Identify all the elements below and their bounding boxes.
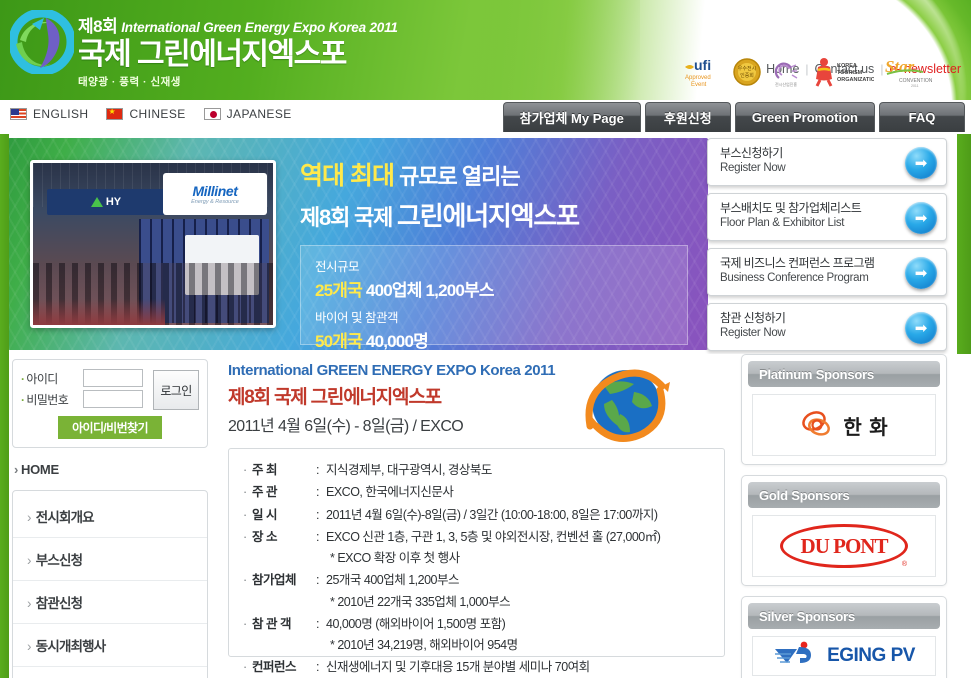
gold-seal-badge: 우수전시 인증회 xyxy=(732,54,762,90)
quick-link-visitor-register[interactable]: 참관 신청하기 Register Now ➡ xyxy=(707,303,947,351)
info-key: 장 소 xyxy=(252,526,316,548)
info-value: 2011년 4월 6일(수)-8일(금) / 3일간 (10:00-18:00,… xyxy=(326,504,714,526)
sidebar-item-label: 부스신청 xyxy=(36,553,82,568)
quick-link-en: Business Conference Program xyxy=(720,271,890,286)
tab-my-page[interactable]: 참가업체 My Page xyxy=(503,102,641,132)
logo-tagline: 태양광 · 풍력 · 신재생 xyxy=(78,74,398,89)
stat-scale-rest: 400업체 1,200부스 xyxy=(362,281,494,300)
info-colon: : xyxy=(316,481,326,503)
info-colon: : xyxy=(316,459,326,481)
info-subnote-venue: * EXCO 확장 이후 첫 행사 xyxy=(243,548,714,569)
bullet-icon: · xyxy=(243,526,252,548)
bullet-icon: · xyxy=(243,481,252,503)
lang-english[interactable]: ENGLISH xyxy=(10,107,88,121)
info-colon: : xyxy=(316,569,326,591)
sidebar-item-label: 참관신청 xyxy=(36,596,82,611)
dupont-oval-icon: DU PONT xyxy=(780,524,908,568)
eging-pv-logo-text: EGING PV xyxy=(827,645,915,667)
lang-japanese[interactable]: JAPANESE xyxy=(204,107,292,121)
hero-banner[interactable]: HY Millinet Energy & Resource 역대 최대 규모로 … xyxy=(8,138,708,350)
hero-section: HY Millinet Energy & Resource 역대 최대 규모로 … xyxy=(0,134,971,354)
korea-tourism-organization-badge: KOREA TOURISM ORGANIZATION xyxy=(810,54,874,90)
info-row-venue: · 장 소 : EXCO 신관 1층, 구관 1, 3, 5층 및 야외전시장,… xyxy=(243,526,714,548)
logo-english-title: International Green Energy Expo Korea 20… xyxy=(121,20,397,35)
info-value: EXCO, 한국에너지신문사 xyxy=(326,481,714,503)
stat-visitors-countries: 50개국 xyxy=(315,332,362,350)
info-key: 일 시 xyxy=(252,504,316,526)
platinum-sponsors-header: Platinum Sponsors xyxy=(748,361,940,387)
gold-sponsors-header: Gold Sponsors xyxy=(748,482,940,508)
arrow-right-icon[interactable]: ➡ xyxy=(905,202,937,234)
info-subnote-exhibitors: * 2010년 22개국 335업체 1,000부스 xyxy=(243,592,714,613)
tab-green-promotion[interactable]: Green Promotion xyxy=(735,102,875,132)
info-key: 참가업체 xyxy=(252,569,316,591)
tab-faq[interactable]: FAQ xyxy=(879,102,965,132)
main-tab-bar: 참가업체 My Page 후원신청 Green Promotion FAQ xyxy=(503,102,965,132)
language-switcher: ENGLISH CHINESE JAPANESE xyxy=(10,107,292,121)
quick-link-en: Floor Plan & Exhibitor List xyxy=(720,216,890,231)
hanwha-logo[interactable]: 한 화 xyxy=(752,394,936,456)
login-id-input[interactable] xyxy=(83,369,143,387)
site-logo-text[interactable]: 제8회 International Green Energy Expo Kore… xyxy=(78,12,398,89)
info-key: 컨퍼런스 xyxy=(252,656,316,678)
info-colon: : xyxy=(316,504,326,526)
arrow-right-icon[interactable]: ➡ xyxy=(905,147,937,179)
triangle-icon xyxy=(91,197,103,207)
quick-link-floor-plan[interactable]: 부스배치도 및 참가업체리스트 Floor Plan & Exhibitor L… xyxy=(707,193,947,241)
quick-link-en: Register Now xyxy=(720,326,890,341)
bullet-icon: · xyxy=(243,504,252,526)
logo-edition: 제8회 xyxy=(78,12,117,37)
svg-text:ufi: ufi xyxy=(694,57,711,73)
dupont-logo-text: DU PONT xyxy=(801,534,888,559)
quick-link-kr: 부스신청하기 xyxy=(720,146,890,161)
sidebar-item-business-conference[interactable]: ›국제 비즈니스 컨퍼런스 xyxy=(13,667,207,678)
svg-text:KOREA: KOREA xyxy=(837,63,857,69)
info-row-datetime: · 일 시 : 2011년 4월 6일(수)-8일(금) / 3일간 (10:0… xyxy=(243,504,714,526)
left-sidebar: 아이디 비밀번호 로그인 아이디/비번찾기 ›HOME xyxy=(0,354,220,678)
lang-japanese-label: JAPANESE xyxy=(227,107,292,121)
photo-millinet-sign: Millinet Energy & Resource xyxy=(163,173,267,215)
login-password-input[interactable] xyxy=(83,390,143,408)
silver-sponsors-box: Silver Sponsors EGING PV xyxy=(741,596,947,678)
login-button[interactable]: 로그인 xyxy=(153,370,199,410)
info-value: EXCO 신관 1층, 구관 1, 3, 5층 및 야외전시장, 컨벤션 홀 (… xyxy=(326,526,714,548)
login-fields: 아이디 비밀번호 로그인 xyxy=(21,369,199,411)
info-row-conference: · 컨퍼런스 : 신재생에너지 및 기후대응 15개 분야별 세미나 70여회 xyxy=(243,656,714,678)
photo-banner-text: HY xyxy=(106,196,121,208)
info-value: 40,000명 (해외바이어 1,500명 포함) xyxy=(326,613,714,635)
info-colon: : xyxy=(316,526,326,548)
info-row-visitors: · 참 관 객 : 40,000명 (해외바이어 1,500명 포함) xyxy=(243,613,714,635)
quick-link-kr: 참관 신청하기 xyxy=(720,311,890,326)
lang-english-label: ENGLISH xyxy=(33,107,88,121)
quick-links-panel: 부스신청하기 Register Now ➡ 부스배치도 및 참가업체리스트 Fl… xyxy=(707,138,947,351)
hero-text-block: 역대 최대 규모로 열리는 제8회 국제 그린에너지엑스포 전시규모 25개국 … xyxy=(300,156,692,345)
hero-stats-box: 전시규모 25개국 400업체 1,200부스 바이어 및 참관객 50개국 4… xyxy=(300,245,688,345)
china-flag-icon xyxy=(106,108,123,120)
svg-text:TOURISM: TOURISM xyxy=(837,70,863,76)
find-id-password-button[interactable]: 아이디/비번찾기 xyxy=(58,416,162,439)
lang-chinese-label: CHINESE xyxy=(129,107,185,121)
sidebar-nav: ›전시회개요 ›부스신청 ›참관신청 ›동시개최행사 ›국제 비즈니스 컨퍼런스 xyxy=(12,490,208,678)
photo-brand-sub: Energy & Resource xyxy=(191,199,239,205)
tab-sponsorship[interactable]: 후원신청 xyxy=(645,102,731,132)
sidebar-item-visitor-application[interactable]: ›참관신청 xyxy=(13,581,207,624)
bullet-icon: · xyxy=(243,613,252,635)
svg-text:2011: 2011 xyxy=(911,84,919,88)
japan-flag-icon xyxy=(204,108,221,120)
silver-sponsors-header: Silver Sponsors xyxy=(748,603,940,629)
eging-pv-logo[interactable]: EGING PV xyxy=(752,636,936,676)
info-value: 25개국 400업체 1,200부스 xyxy=(326,569,714,591)
bullet-icon: · xyxy=(243,656,252,678)
globe-arrow-icon xyxy=(576,356,672,448)
sidebar-item-home[interactable]: ›HOME xyxy=(14,462,220,477)
main-content: 아이디 비밀번호 로그인 아이디/비번찾기 ›HOME xyxy=(0,354,971,678)
stat-scale-countries: 25개국 xyxy=(315,281,362,300)
info-key: 주 관 xyxy=(252,481,316,503)
arrow-right-icon[interactable]: ➡ xyxy=(905,257,937,289)
hanwha-mark-icon xyxy=(799,408,835,442)
hero-headline-rest: 규모로 열리는 xyxy=(394,164,520,189)
svg-text:Approved: Approved xyxy=(685,75,711,81)
photo-brand-name: Millinet xyxy=(192,183,237,199)
logo-korean-title: 국제 그린에너지엑스포 xyxy=(78,38,398,71)
sidebar-home-label: HOME xyxy=(21,462,59,477)
photo-booth-banner: HY xyxy=(47,189,165,215)
login-pw-label: 비밀번호 xyxy=(21,391,79,408)
event-info-table: · 주 최 : 지식경제부, 대구광역시, 경상북도 · 주 관 : EXCO,… xyxy=(228,448,725,657)
quick-link-en: Register Now xyxy=(720,161,890,176)
lang-chinese[interactable]: CHINESE xyxy=(106,107,185,121)
hero-subheadline-big: 그린에너지엑스포 xyxy=(397,201,579,231)
login-id-label: 아이디 xyxy=(21,370,79,387)
chevron-right-icon: › xyxy=(27,639,31,654)
expo-hall-photo: HY Millinet Energy & Resource xyxy=(30,160,276,328)
quick-link-kr: 부스배치도 및 참가업체리스트 xyxy=(720,201,890,216)
info-subnote-visitors: * 2010년 34,219명, 해외바이어 954명 xyxy=(243,635,714,656)
stat-value-scale: 25개국 400업체 1,200부스 xyxy=(315,276,673,301)
photo-red-carpet xyxy=(33,299,165,325)
chevron-right-icon: › xyxy=(27,596,31,611)
page-root: 제8회 International Green Energy Expo Kore… xyxy=(0,0,971,678)
sidebar-item-label: 동시개최행사 xyxy=(36,639,106,654)
arrow-right-icon[interactable]: ➡ xyxy=(905,312,937,344)
svg-text:전시산업진흥: 전시산업진흥 xyxy=(775,81,797,87)
hanwha-logo-text: 한 화 xyxy=(843,411,888,440)
bullet-icon: · xyxy=(243,569,252,591)
info-row-host: · 주 최 : 지식경제부, 대구광역시, 경상북도 xyxy=(243,459,714,481)
chevron-right-icon: › xyxy=(27,553,31,568)
stat-value-visitors: 50개국 40,000명 xyxy=(315,327,673,350)
svg-text:Event: Event xyxy=(691,82,707,88)
us-flag-icon xyxy=(10,108,27,120)
language-and-tab-bar: ENGLISH CHINESE JAPANESE 참가업체 My Page 후원… xyxy=(0,100,971,134)
hero-headline: 역대 최대 규모로 열리는 xyxy=(300,156,692,192)
svg-text:인증회: 인증회 xyxy=(740,72,754,79)
info-row-exhibitors: · 참가업체 : 25개국 400업체 1,200부스 xyxy=(243,569,714,591)
content-column: International GREEN ENERGY EXPO Korea 20… xyxy=(228,354,738,657)
stat-label-visitors: 바이어 및 참관객 xyxy=(315,307,673,326)
gold-sponsors-box: Gold Sponsors DU PONT xyxy=(741,475,947,586)
sponsors-column: Platinum Sponsors 한 화 Gold Sponsors xyxy=(741,354,947,678)
stat-label-scale: 전시규모 xyxy=(315,256,673,275)
platinum-sponsors-box: Platinum Sponsors 한 화 xyxy=(741,354,947,465)
dupont-logo[interactable]: DU PONT xyxy=(752,515,936,577)
info-value: 신재생에너지 및 기후대응 15개 분야별 세미나 70여회 xyxy=(326,656,714,678)
hero-subheadline: 제8회 국제 그린에너지엑스포 xyxy=(300,196,692,233)
login-box: 아이디 비밀번호 로그인 아이디/비번찾기 xyxy=(12,359,208,448)
quick-link-booth-register[interactable]: 부스신청하기 Register Now ➡ xyxy=(707,138,947,186)
certification-badges: ufi Approved Event 우수전시 인증회 전시산 xyxy=(683,54,935,90)
convention-swirl-badge: 전시산업진흥 xyxy=(771,54,801,90)
expo-logo-emblem-icon[interactable] xyxy=(10,10,74,74)
svg-text:우수전시: 우수전시 xyxy=(738,65,756,72)
info-key: 주 최 xyxy=(252,459,316,481)
quick-link-business-conference[interactable]: 국제 비즈니스 컨퍼런스 프로그램 Business Conference Pr… xyxy=(707,248,947,296)
info-value: 지식경제부, 대구광역시, 경상북도 xyxy=(326,459,714,481)
info-key: 참 관 객 xyxy=(252,613,316,635)
sidebar-item-overview[interactable]: ›전시회개요 xyxy=(13,495,207,538)
hero-subheadline-prefix: 제8회 국제 xyxy=(300,205,392,230)
star-convention-badge: Star CONVENTION 2011 xyxy=(883,54,935,90)
sidebar-item-label: 전시회개요 xyxy=(36,510,94,525)
sidebar-item-concurrent-events[interactable]: ›동시개최행사 xyxy=(13,624,207,667)
info-row-organizer: · 주 관 : EXCO, 한국에너지신문사 xyxy=(243,481,714,503)
login-pw-row: 비밀번호 xyxy=(21,390,146,408)
site-header: 제8회 International Green Energy Expo Kore… xyxy=(0,0,971,100)
eging-mark-icon xyxy=(773,641,819,672)
quick-link-kr: 국제 비즈니스 컨퍼런스 프로그램 xyxy=(720,256,890,271)
chevron-right-icon: › xyxy=(14,462,18,477)
svg-text:ORGANIZATION: ORGANIZATION xyxy=(837,77,874,83)
hero-headline-highlight: 역대 최대 xyxy=(300,162,394,190)
info-colon: : xyxy=(316,613,326,635)
stat-visitors-rest: 40,000명 xyxy=(362,332,428,350)
ufi-approved-event-badge: ufi Approved Event xyxy=(683,54,723,90)
login-id-row: 아이디 xyxy=(21,369,146,387)
chevron-right-icon: › xyxy=(27,510,31,525)
sidebar-item-booth-application[interactable]: ›부스신청 xyxy=(13,538,207,581)
bullet-icon: · xyxy=(243,459,252,481)
info-colon: : xyxy=(316,656,326,678)
